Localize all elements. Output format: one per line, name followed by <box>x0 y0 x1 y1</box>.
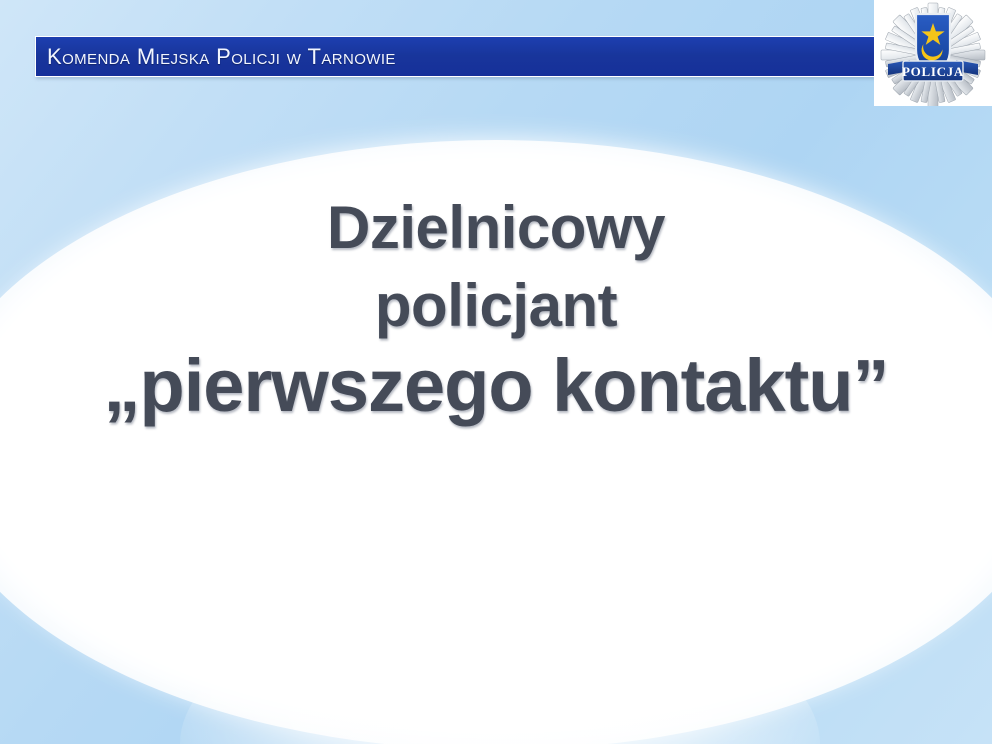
police-logo: POLICJA <box>874 0 992 106</box>
title-line-2: policjant <box>0 274 992 338</box>
police-star-icon: POLICJA <box>874 0 992 106</box>
header-title: Komenda Miejska Policji w Tarnowie <box>36 44 396 70</box>
slide-title-block: Dzielnicowy policjant „pierwszego kontak… <box>0 196 992 426</box>
bottom-glow <box>180 594 820 744</box>
logo-banner-text: POLICJA <box>902 64 964 79</box>
header-bar: Komenda Miejska Policji w Tarnowie <box>35 36 875 77</box>
title-line-1: Dzielnicowy <box>0 196 992 260</box>
title-line-3: „pierwszego kontaktu” <box>0 347 992 425</box>
presentation-slide: Komenda Miejska Policji w Tarnowie <box>0 0 992 744</box>
